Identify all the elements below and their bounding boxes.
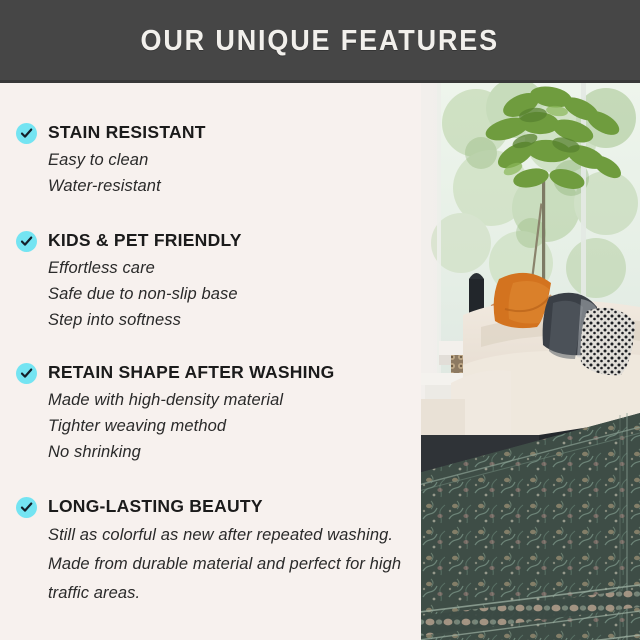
features-panel: STAIN RESISTANT Easy to clean Water-resi… [0, 83, 421, 640]
header-banner: OUR UNIQUE FEATURES [0, 0, 640, 83]
feature-item-kids-pet-friendly: KIDS & PET FRIENDLY Effortless care Safe… [16, 229, 409, 333]
feature-line: Tighter weaving method [48, 413, 409, 439]
feature-item-long-lasting-beauty: LONG-LASTING BEAUTY Still as colorful as… [16, 495, 409, 608]
feature-title: RETAIN SHAPE AFTER WASHING [48, 361, 409, 384]
check-circle-icon [16, 497, 37, 518]
check-circle-icon [16, 231, 37, 252]
feature-infographic-page: OUR UNIQUE FEATURES STAIN RESISTANT Easy… [0, 0, 640, 640]
feature-paragraph: Still as colorful as new after repeated … [48, 521, 408, 608]
feature-item-retain-shape: RETAIN SHAPE AFTER WASHING Made with hig… [16, 361, 409, 465]
feature-line: Safe due to non-slip base [48, 281, 409, 307]
feature-lines: Effortless care Safe due to non-slip bas… [48, 255, 409, 333]
feature-item-stain-resistant: STAIN RESISTANT Easy to clean Water-resi… [16, 121, 409, 199]
feature-line: Water-resistant [48, 173, 409, 199]
feature-title: LONG-LASTING BEAUTY [48, 495, 409, 518]
feature-title: STAIN RESISTANT [48, 121, 409, 144]
feature-title: KIDS & PET FRIENDLY [48, 229, 409, 252]
feature-line: Made with high-density material [48, 387, 409, 413]
page-title: OUR UNIQUE FEATURES [141, 25, 500, 58]
feature-line: Easy to clean [48, 147, 409, 173]
living-room-with-floral-rug-photo [421, 83, 640, 640]
feature-line: No shrinking [48, 439, 409, 465]
check-circle-icon [16, 363, 37, 384]
feature-lines: Easy to clean Water-resistant [48, 147, 409, 199]
feature-line: Step into softness [48, 307, 409, 333]
check-circle-icon [16, 123, 37, 144]
feature-lines: Made with high-density material Tighter … [48, 387, 409, 465]
feature-line: Effortless care [48, 255, 409, 281]
